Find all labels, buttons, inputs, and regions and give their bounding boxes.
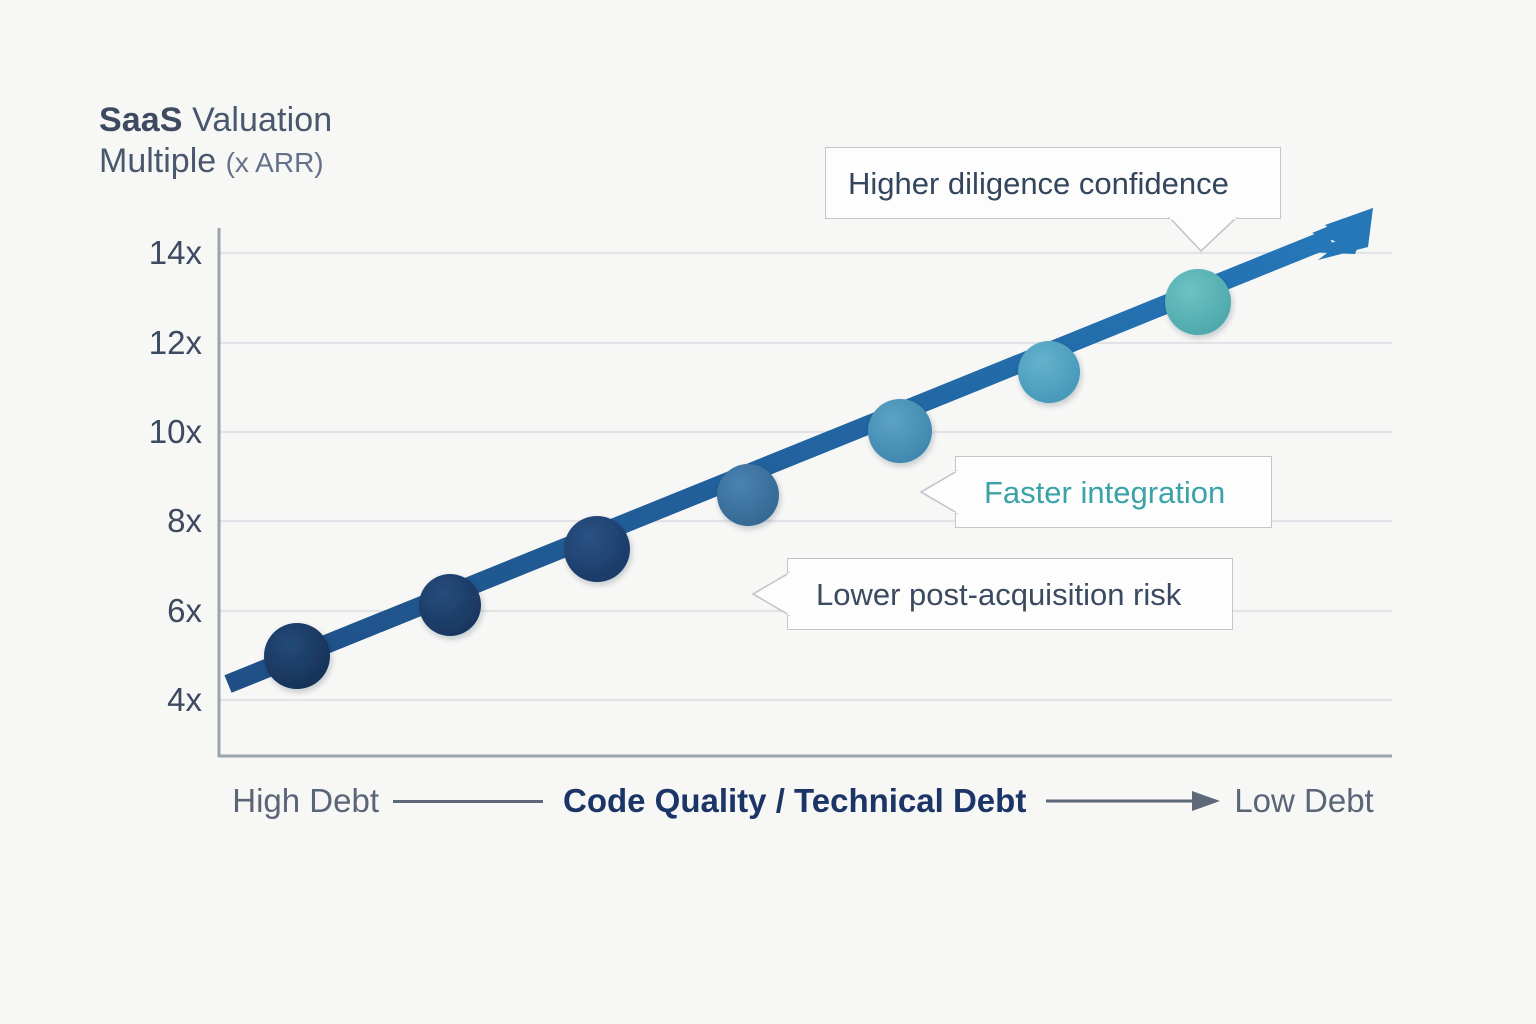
callout-higher-diligence-confidence-text: Higher diligence confidence [848, 168, 1229, 199]
x-axis-label-high-debt: High Debt [232, 782, 379, 820]
callout-faster-integration-text: Faster integration [984, 477, 1225, 508]
x-axis-arrow-right-icon [1046, 791, 1220, 811]
data-point-7 [1165, 269, 1231, 335]
y-axis-ticks: 14x 12x 10x 8x 6x 4x [122, 0, 202, 1024]
callout-lower-post-acquisition-risk: Lower post-acquisition risk [787, 558, 1233, 630]
chart-root: SaaS Valuation Multiple (x ARR) [0, 0, 1536, 1024]
data-point-5 [868, 399, 932, 463]
plot-area [0, 0, 1536, 1024]
callout-higher-diligence-confidence: Higher diligence confidence [825, 147, 1281, 219]
y-tick-label-10x: 10x [122, 413, 202, 451]
callout-risk-tail-icon [751, 571, 791, 617]
x-axis-rule-left [393, 800, 543, 803]
y-tick-label-12x: 12x [122, 324, 202, 362]
callout-diligence-tail-icon [1168, 217, 1238, 253]
y-tick-label-6x: 6x [122, 592, 202, 630]
callout-integration-tail-icon [919, 469, 959, 515]
data-point-1 [264, 623, 330, 689]
x-axis-label-low-debt: Low Debt [1234, 782, 1373, 820]
data-point-3 [564, 516, 630, 582]
x-axis-caption: High Debt Code Quality / Technical Debt … [218, 775, 1388, 827]
data-point-6 [1018, 341, 1080, 403]
y-tick-label-8x: 8x [122, 502, 202, 540]
y-tick-label-14x: 14x [122, 234, 202, 272]
y-tick-label-4x: 4x [122, 681, 202, 719]
x-axis-label-center: Code Quality / Technical Debt [557, 782, 1032, 820]
data-point-2 [419, 574, 481, 636]
callout-lower-post-acquisition-risk-text: Lower post-acquisition risk [816, 579, 1181, 610]
data-point-4 [717, 464, 779, 526]
callout-faster-integration: Faster integration [955, 456, 1272, 528]
